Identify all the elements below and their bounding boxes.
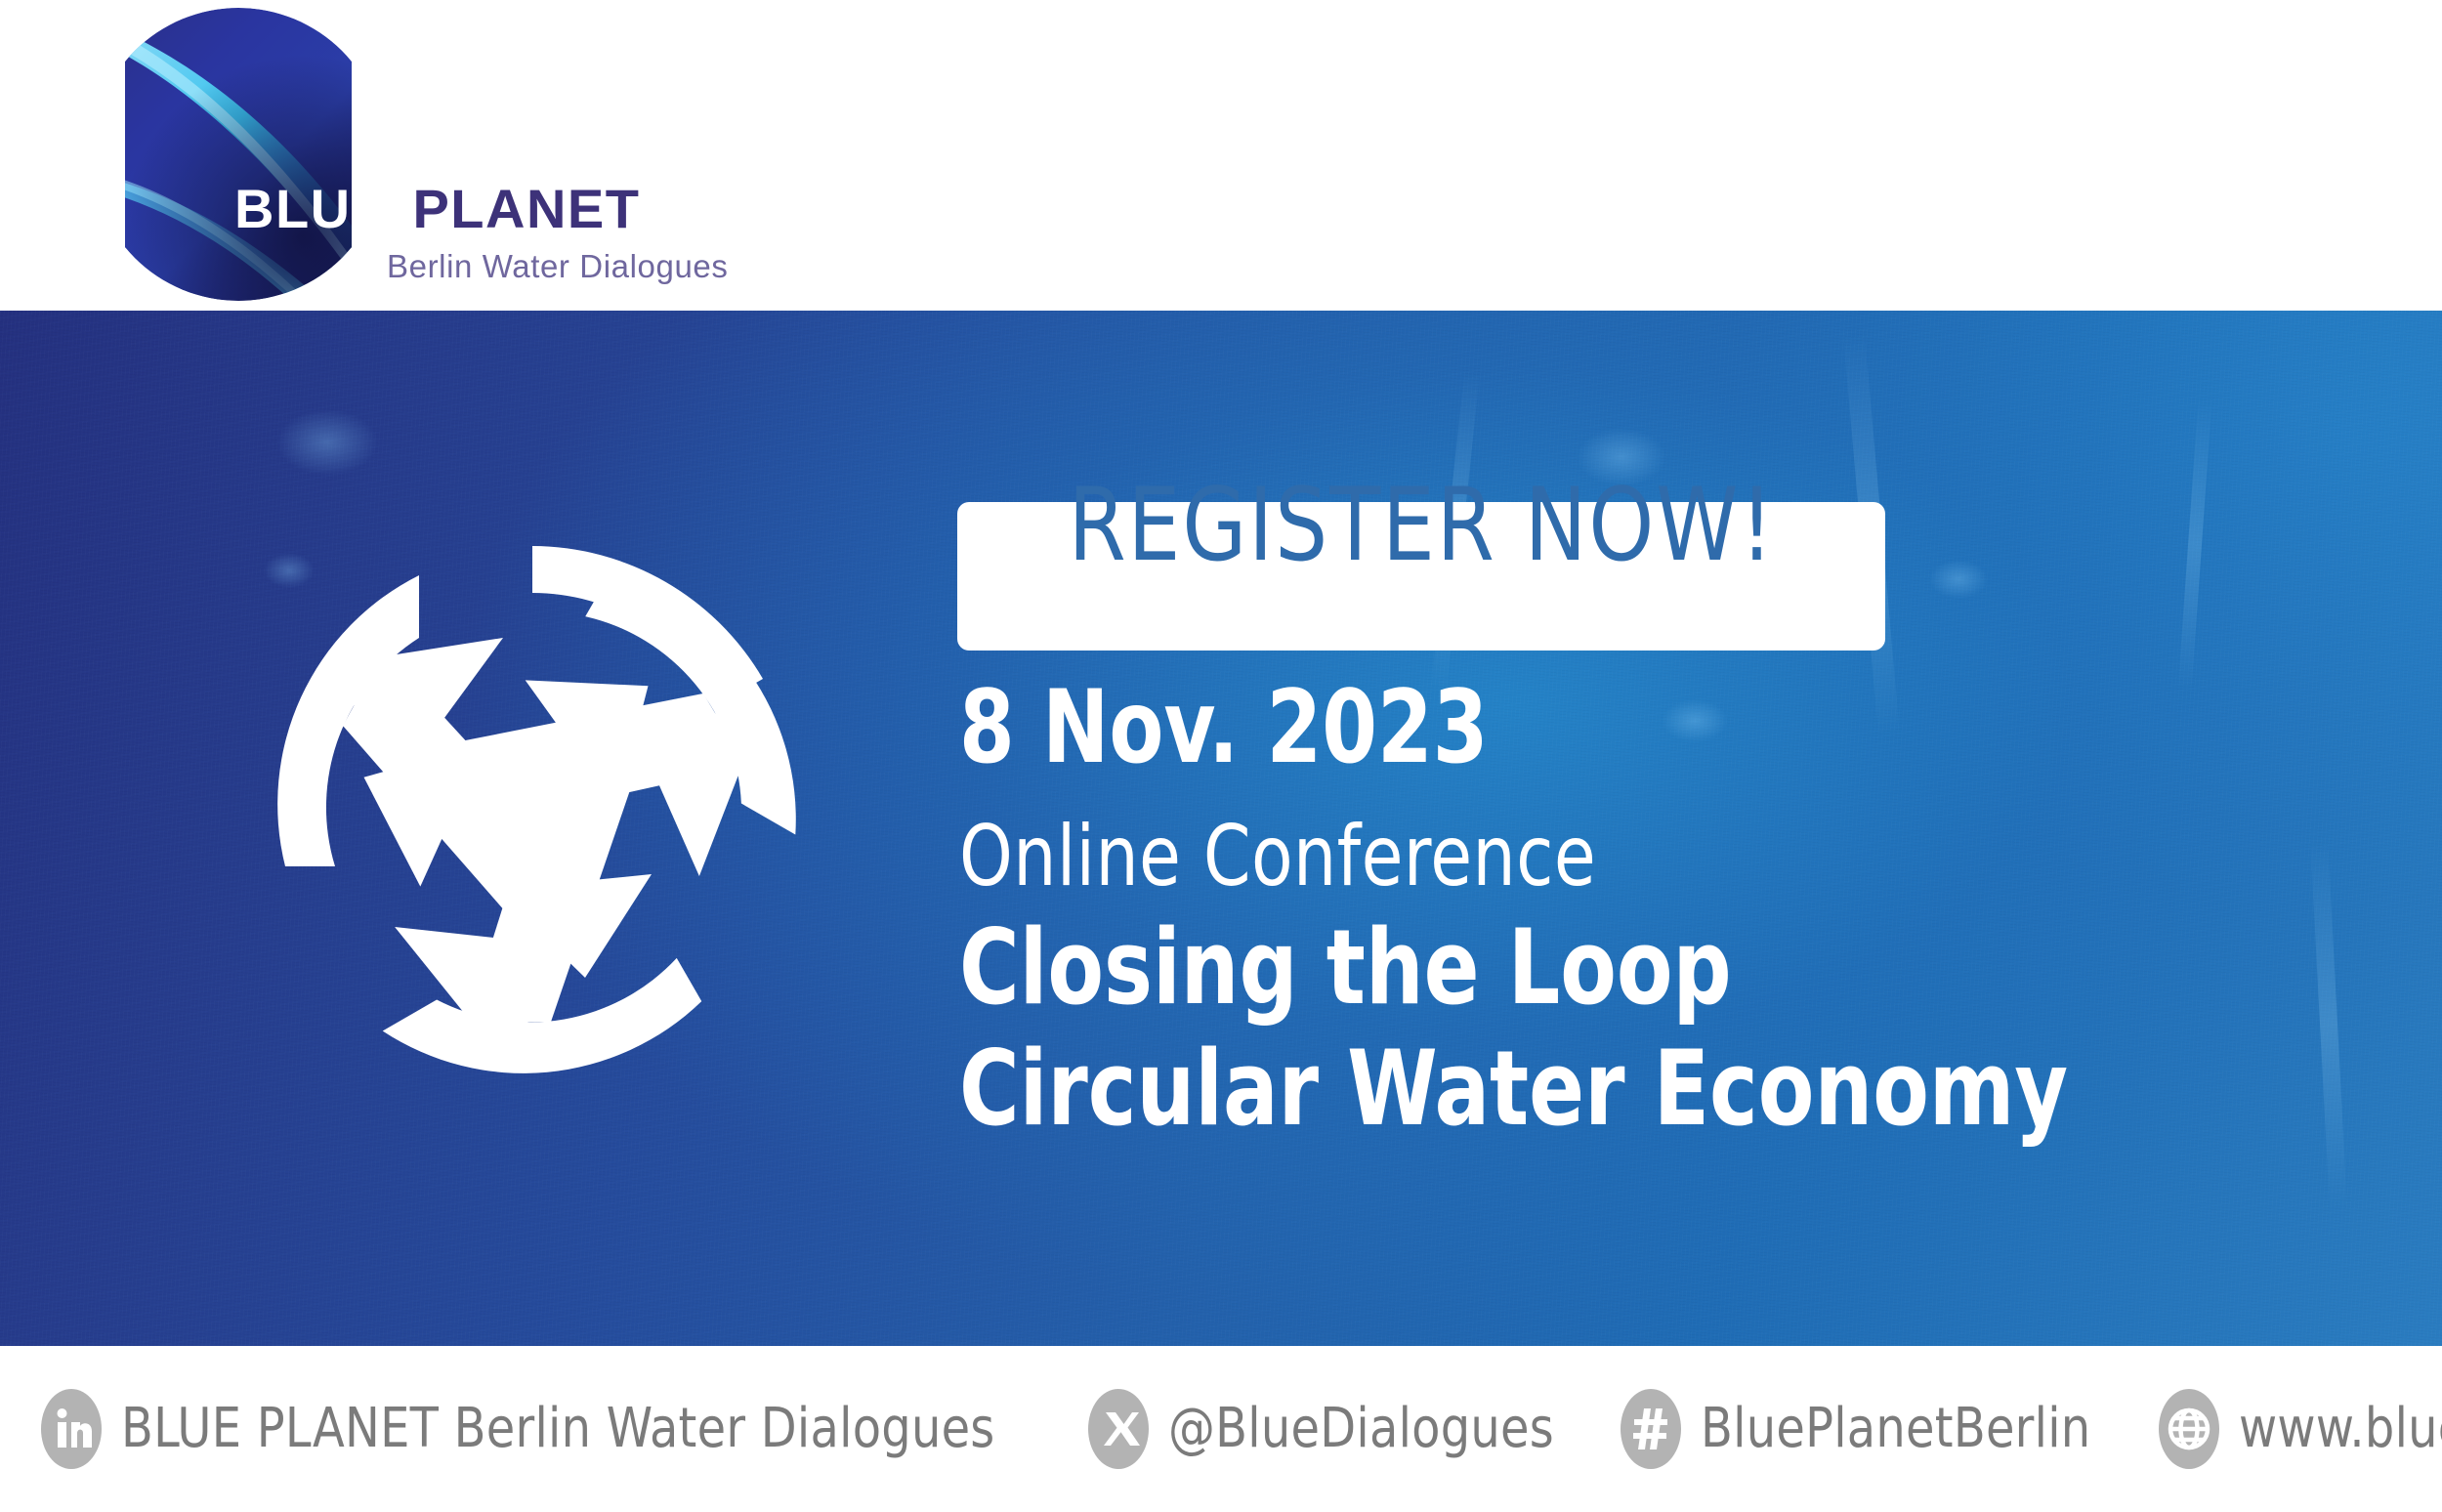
logo-word-planet: PLANET <box>412 178 640 239</box>
event-title-line-1-text: Closing the Loop <box>959 916 1732 1020</box>
circular-recycling-arrows-icon <box>210 491 855 1136</box>
register-now-text: REGISTER NOW! <box>1068 476 1775 576</box>
event-format-text: Online Conference <box>959 815 1596 899</box>
event-date-text: 8 Nov. 2023 <box>959 678 1488 778</box>
social-label-hashtag: BluePlanetBerlin <box>1701 1402 2111 1456</box>
social-label-hashtag-text: BluePlanetBerlin <box>1701 1402 2090 1456</box>
register-now-button[interactable]: REGISTER NOW! <box>957 502 1885 651</box>
social-label-linkedin: BLUE PLANET Berlin Water Dialogues <box>121 1402 1041 1456</box>
social-label-linkedin-text: BLUE PLANET Berlin Water Dialogues <box>121 1402 995 1456</box>
event-title-line-2-text: Circular Water Economy <box>959 1037 2068 1141</box>
social-footer: BLUE PLANET Berlin Water Dialogues @Blue… <box>0 1346 2442 1512</box>
header-bar: BLUEPLANET Berlin Water Dialogues <box>0 0 2442 311</box>
logo-wordmark: BLUEPLANET Berlin Water Dialogues <box>234 182 860 309</box>
register-now-label: REGISTER NOW! <box>957 526 1885 627</box>
event-banner: REGISTER NOW! 8 Nov. 2023 Online Confere… <box>0 311 2442 1346</box>
social-label-website-text: www.blueplanetberlin.de <box>2239 1402 2442 1456</box>
logo-wordmark-row-1: BLUEPLANET <box>234 182 640 236</box>
logo-tagline: Berlin Water Dialogues <box>387 250 728 282</box>
event-text-block: REGISTER NOW! 8 Nov. 2023 Online Confere… <box>957 502 2325 1283</box>
social-link-linkedin[interactable]: BLUE PLANET Berlin Water Dialogues <box>41 1389 1041 1469</box>
event-title-line-2: Circular Water Economy <box>959 1037 2219 1141</box>
social-label-x: @BlueDialogues <box>1168 1402 1575 1456</box>
x-twitter-icon <box>1088 1389 1149 1469</box>
social-link-hashtag[interactable]: BluePlanetBerlin <box>1621 1389 2111 1469</box>
logo-word-blue: BLUE <box>234 178 389 239</box>
globe-icon <box>2159 1389 2219 1469</box>
linkedin-icon <box>41 1389 102 1469</box>
social-link-website[interactable]: www.blueplanetberlin.de <box>2159 1389 2442 1469</box>
event-format: Online Conference <box>959 815 1667 899</box>
social-label-x-text: @BlueDialogues <box>1168 1402 1554 1456</box>
social-link-x[interactable]: @BlueDialogues <box>1088 1389 1575 1469</box>
hashtag-icon <box>1621 1389 1681 1469</box>
event-title-line-1: Closing the Loop <box>959 916 1836 1020</box>
social-label-website: www.blueplanetberlin.de <box>2239 1402 2442 1456</box>
event-date: 8 Nov. 2023 <box>959 678 1560 778</box>
brand-logo[interactable]: BLUEPLANET Berlin Water Dialogues <box>125 6 867 309</box>
